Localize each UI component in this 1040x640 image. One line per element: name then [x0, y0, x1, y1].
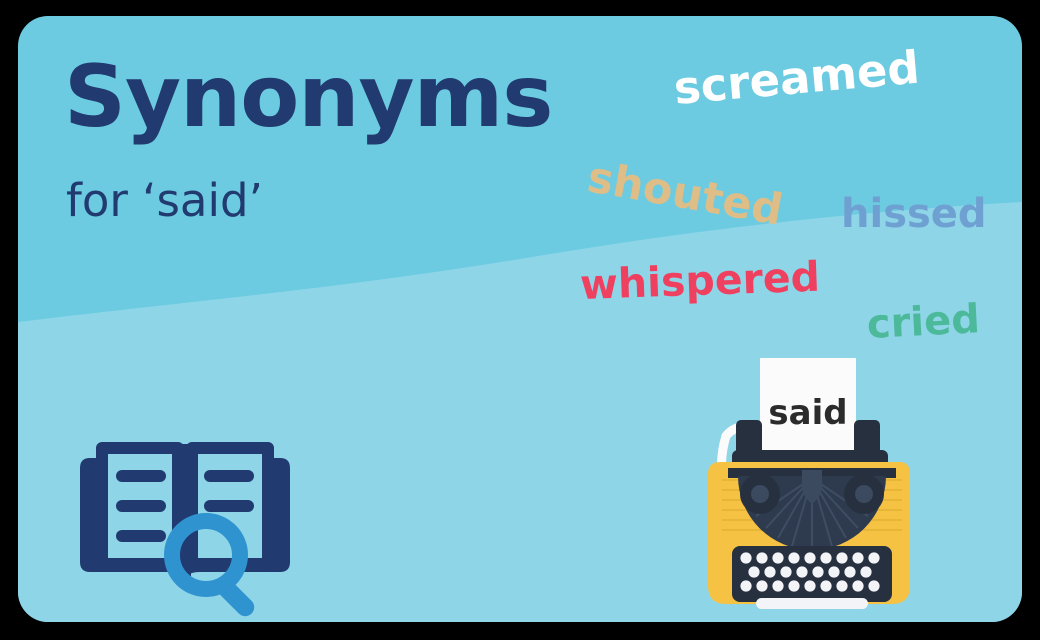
book-text-line	[116, 470, 166, 482]
book-text-line	[116, 530, 166, 542]
synonym-word-screamed: screamed	[672, 45, 921, 111]
book-spine	[179, 444, 191, 576]
spool-right-center	[855, 485, 873, 503]
synonym-word-hissed: hissed	[841, 194, 987, 234]
book-with-magnifier-icon	[80, 428, 290, 618]
typewriter-paper-text: said	[768, 393, 847, 433]
book-text-line	[204, 500, 254, 512]
page-subtitle: for ‘said’	[66, 176, 263, 226]
page-title: Synonyms	[64, 52, 552, 142]
synonym-word-whispered: whispered	[579, 257, 820, 306]
spool-left-center	[751, 485, 769, 503]
screenshot-stage: Synonyms for ‘said’ screamed shouted his…	[0, 0, 1040, 640]
book-text-line	[204, 470, 254, 482]
slide-card: Synonyms for ‘said’ screamed shouted his…	[18, 16, 1022, 622]
typewriter-icon: said	[704, 354, 920, 616]
spacebar	[756, 598, 868, 609]
book-text-line	[116, 500, 166, 512]
synonym-word-cried: cried	[866, 299, 981, 345]
